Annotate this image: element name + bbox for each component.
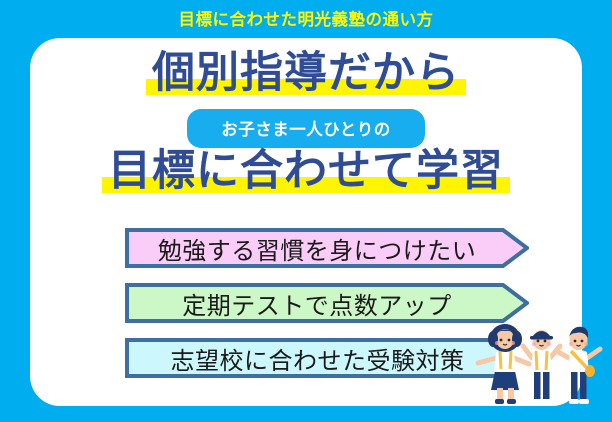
banner-label: 定期テストで点数アップ: [182, 286, 452, 321]
banner-label: 勉強する習慣を身につけたい: [158, 231, 477, 266]
boy-student-cap: [523, 330, 560, 404]
poster-root: 目標に合わせた明光義塾の通い方 個別指導だから お子さま一人ひとりの 目標に合わ…: [0, 0, 612, 422]
girl-student: [478, 324, 529, 404]
banner-label: 志望校に合わせた受験対策: [171, 341, 465, 376]
heading-line1-container: 個別指導だから: [30, 52, 582, 95]
banner-exam-prep[interactable]: 志望校に合わせた受験対策: [125, 338, 510, 378]
banner-test-score[interactable]: 定期テストで点数アップ: [125, 283, 529, 323]
badge-container: お子さま一人ひとりの: [30, 109, 582, 148]
heading-line1: 個別指導だから: [152, 49, 460, 97]
badge-label: お子さま一人ひとりの: [187, 109, 425, 148]
students-illustration: [466, 322, 612, 406]
heading-line2-container: 目標に合わせて学習: [30, 150, 582, 193]
top-headline: 目標に合わせた明光義塾の通い方: [0, 6, 612, 30]
heading-line2: 目標に合わせて学習: [108, 147, 504, 195]
banner-study-habit[interactable]: 勉強する習慣を身につけたい: [125, 228, 529, 268]
boy-student-satchel: [558, 327, 600, 404]
